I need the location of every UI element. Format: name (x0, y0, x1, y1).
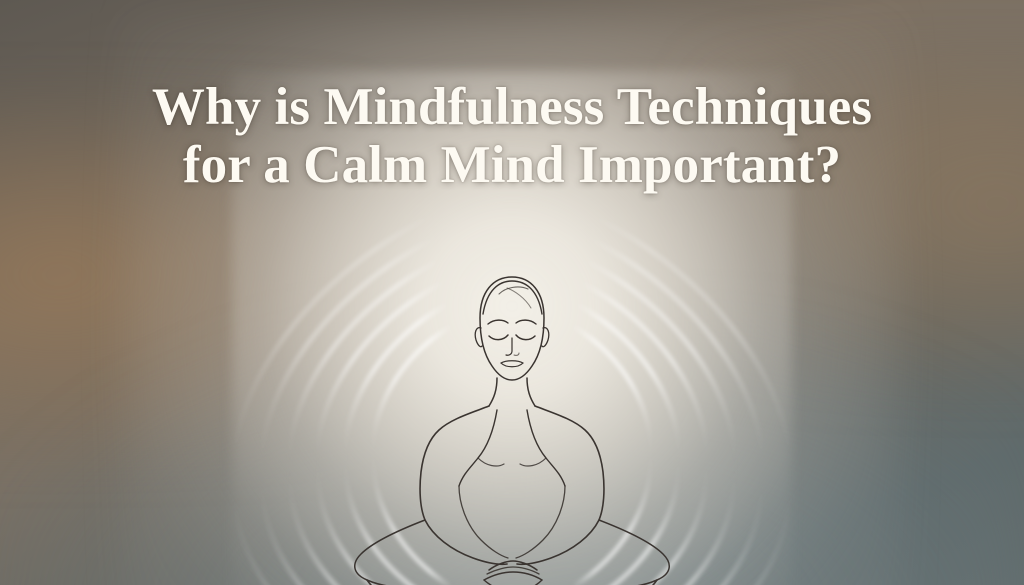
upper-lip (501, 361, 523, 363)
page-title: Why is Mindfulness Techniques for a Calm… (0, 78, 1024, 194)
right-thigh-outer (581, 520, 669, 585)
right-torso-inner (527, 410, 565, 486)
left-thigh-outer (355, 520, 443, 585)
neck-left (489, 378, 497, 406)
left-leg-lower (367, 580, 513, 585)
neck-right (527, 378, 535, 406)
title-line-1: Why is Mindfulness Techniques (40, 78, 984, 136)
left-shoulder-arm-outer (420, 406, 489, 520)
left-eyebrow (488, 320, 508, 324)
right-shoulder-arm-outer (535, 406, 604, 520)
right-leg-lower (511, 580, 657, 585)
right-eyebrow (516, 320, 536, 324)
meditating-person-illustration (347, 258, 677, 585)
mindfulness-banner: Why is Mindfulness Techniques for a Calm… (0, 0, 1024, 585)
left-torso-inner (459, 410, 497, 486)
lower-hand (484, 572, 542, 580)
left-eye-closed (489, 335, 508, 340)
right-eye-closed (516, 335, 535, 340)
right-forearm (517, 520, 599, 564)
nose (506, 338, 512, 355)
title-line-2: for a Calm Mind Important? (40, 136, 984, 194)
hand-bottom-contour (484, 580, 542, 585)
upper-hand (489, 561, 537, 570)
left-forearm (425, 520, 507, 564)
lower-lip (501, 363, 523, 367)
